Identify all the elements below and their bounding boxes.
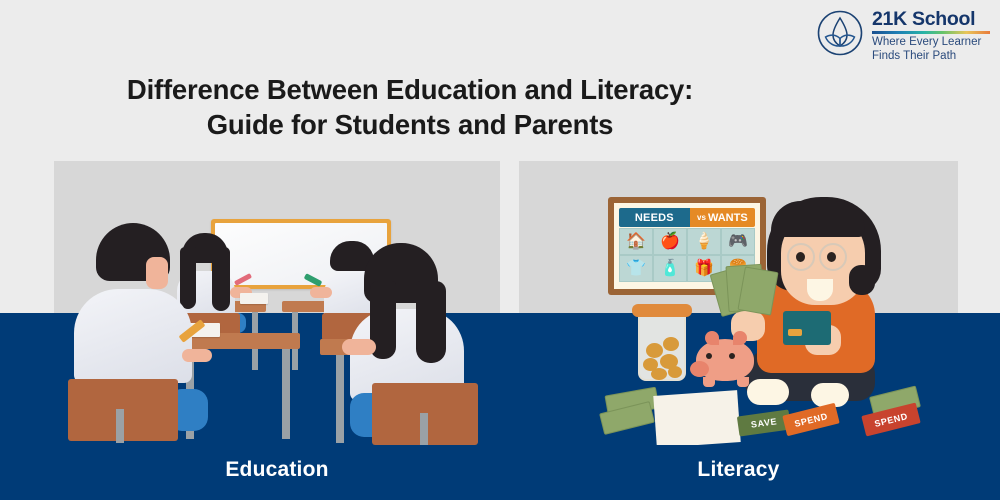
page-title-line2: Guide for Students and Parents: [60, 107, 760, 142]
logo-name: 21K School: [872, 8, 994, 30]
poster-icon-apple: 🍎: [653, 228, 687, 255]
poster-needs-label: NEEDS: [619, 208, 690, 227]
caption-literacy: Literacy: [519, 458, 958, 482]
poster-icon-house: 🏠: [619, 228, 653, 255]
logo-gradient-rule: [872, 31, 990, 34]
poster-wants-header: vs WANTS: [690, 208, 755, 227]
logo-tagline-line1: Where Every Learner: [872, 36, 994, 49]
wallet: [783, 311, 831, 345]
panel-literacy-image: NEEDS vs WANTS 🏠 🍎 🍦 🎮 👕 🧴 🎁 🍔: [519, 161, 958, 445]
poster-icon-icecream: 🍦: [687, 228, 721, 255]
panel-education-image: [54, 161, 500, 445]
poster-icon-bottle: 🧴: [653, 255, 687, 282]
eye-right: [827, 252, 836, 262]
foot-left: [747, 379, 789, 405]
collar: [807, 279, 833, 301]
poster-vs-label: vs: [697, 213, 706, 222]
logo-tagline-line2: Finds Their Path: [872, 50, 994, 63]
page-title-line1: Difference Between Education and Literac…: [60, 72, 760, 107]
lotus-circle-logo-icon: [816, 9, 864, 57]
poster-header: NEEDS vs WANTS: [619, 208, 755, 227]
caption-education: Education: [54, 458, 500, 482]
page-title: Difference Between Education and Literac…: [60, 72, 760, 142]
poster-icon-tshirt: 👕: [619, 255, 653, 282]
poster-icon-gamepad: 🎮: [721, 228, 755, 255]
eye-left: [796, 252, 805, 262]
banner-root: 21K School Where Every Learner Finds The…: [0, 0, 1000, 500]
logo-text-block: 21K School Where Every Learner Finds The…: [872, 8, 994, 63]
paper-sheet: [653, 390, 740, 445]
brand-logo[interactable]: 21K School Where Every Learner Finds The…: [816, 8, 994, 60]
poster-wants-label: WANTS: [708, 212, 748, 224]
